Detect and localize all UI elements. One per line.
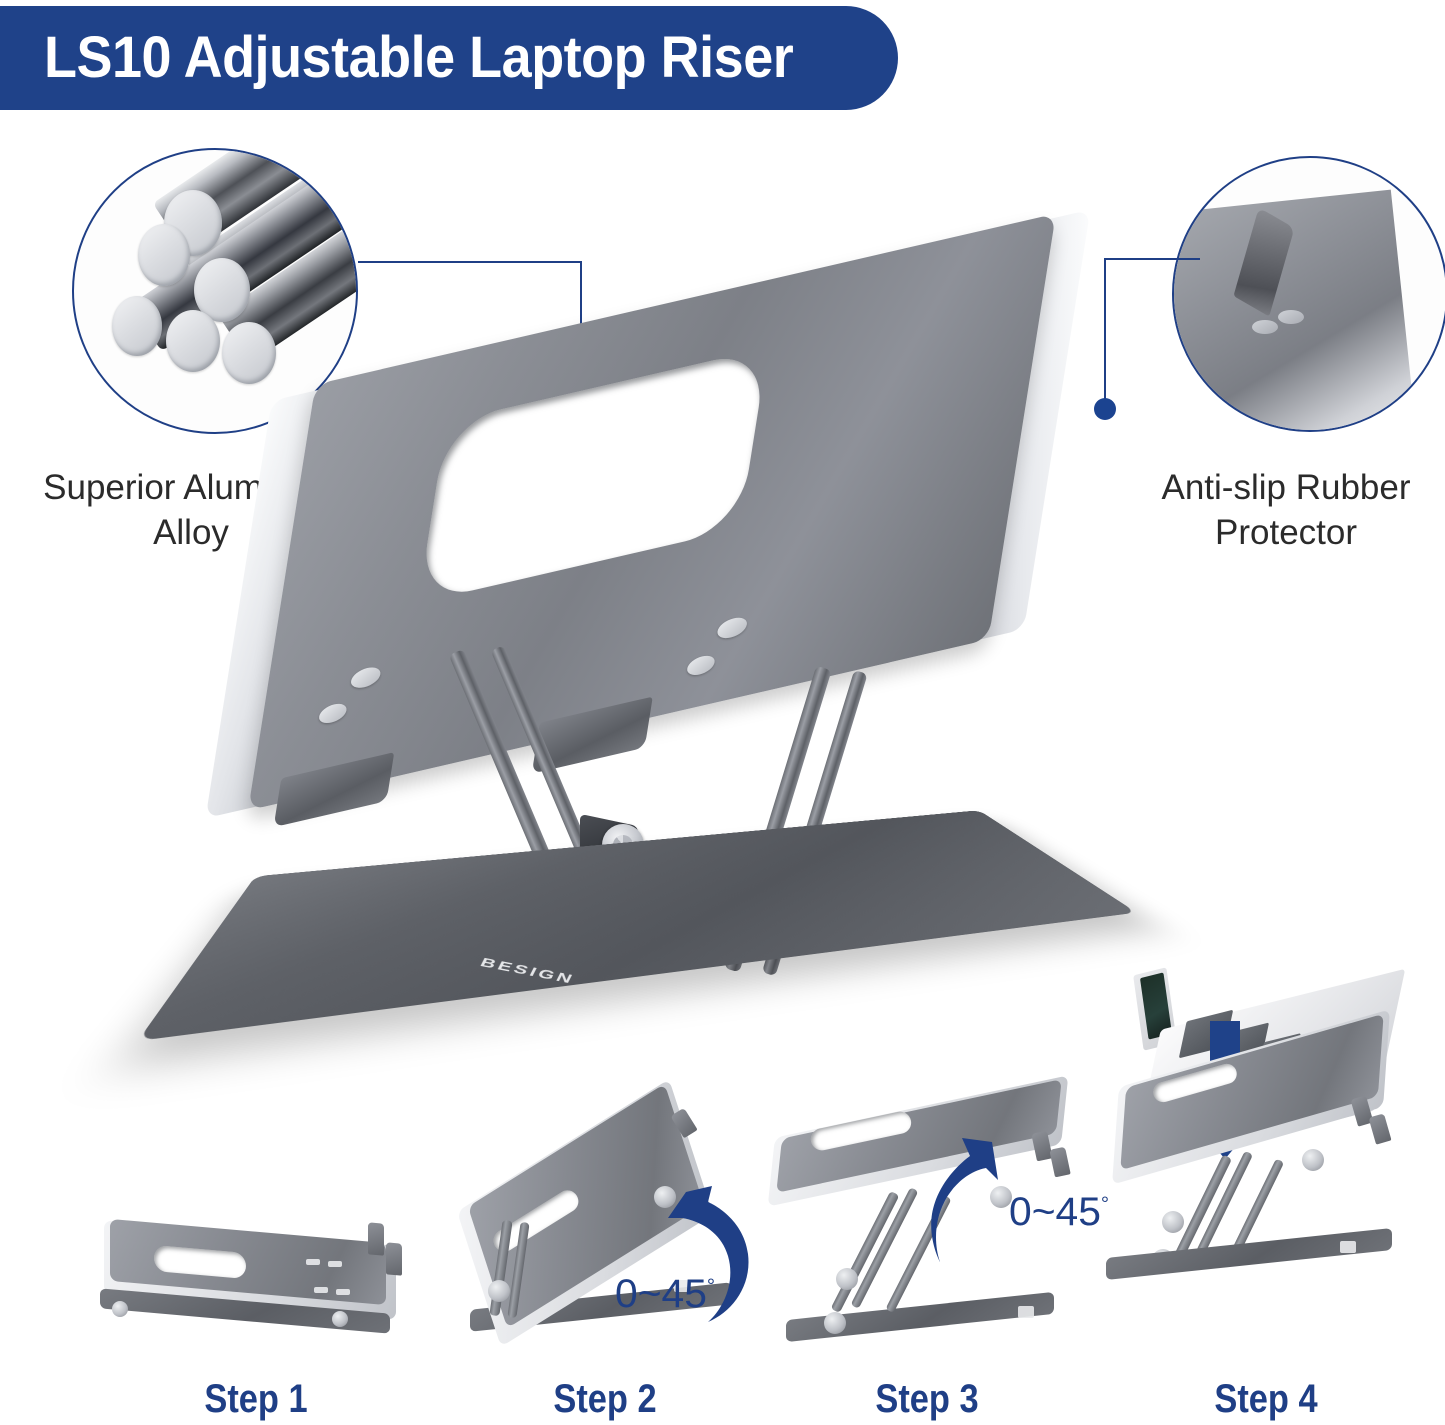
step-3-art: 0~45°	[762, 1090, 1092, 1365]
plate-lip-left	[274, 752, 395, 827]
step-2-label: Step 2	[463, 1377, 747, 1422]
pad-4	[686, 653, 716, 677]
feature-label-rubber: Anti-slip Rubber Protector	[1128, 466, 1444, 556]
step-2: 0~45° Step 2	[440, 1100, 770, 1365]
angle-unit-step-2: °	[707, 1276, 715, 1298]
angle-label-step-3: 0~45°	[1009, 1190, 1109, 1235]
step-4: Step 4	[1096, 955, 1436, 1365]
step-4-label: Step 4	[1120, 1377, 1412, 1422]
ventilation-cutout	[418, 348, 768, 603]
pad-3	[716, 615, 748, 641]
product-hero-image: BESIGN	[250, 300, 1160, 1080]
step-1-label: Step 1	[118, 1377, 393, 1422]
step-3: 0~45° Step 3	[762, 1090, 1092, 1365]
plate-surface	[248, 213, 1056, 810]
rubber-protector-closeup	[1172, 156, 1445, 432]
step-2-art: 0~45°	[440, 1100, 770, 1365]
step-3-label: Step 3	[785, 1377, 1069, 1422]
title-banner: LS10 Adjustable Laptop Riser	[0, 6, 898, 110]
angle-value-step-2: 0~45	[615, 1272, 707, 1316]
step-1: Step 1	[96, 1215, 416, 1365]
angle-value-step-3: 0~45	[1009, 1190, 1101, 1234]
rubber-dot-2	[1278, 310, 1304, 324]
pad-1	[350, 665, 382, 691]
laptop-top-plate	[248, 213, 1056, 810]
step-1-art	[96, 1215, 416, 1365]
rubber-dot-1	[1252, 320, 1278, 334]
angle-label-step-2: 0~45°	[615, 1272, 715, 1317]
page-title: LS10 Adjustable Laptop Riser	[44, 29, 793, 87]
infographic-canvas: LS10 Adjustable Laptop Riser	[0, 0, 1445, 1425]
base-plate	[138, 810, 1137, 1041]
pad-2	[318, 701, 348, 725]
step-4-art	[1096, 955, 1436, 1365]
